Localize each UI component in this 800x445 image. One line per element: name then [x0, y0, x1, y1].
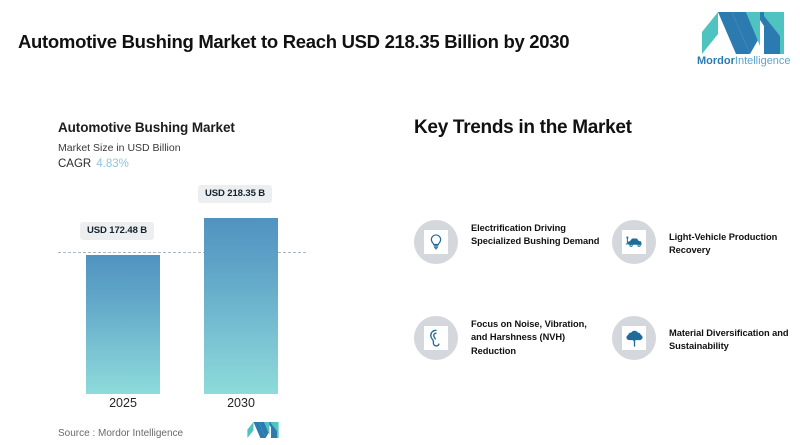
bar-label-2025: USD 172.48 B — [80, 222, 154, 240]
cagr-row: CAGR4.83% — [58, 158, 129, 170]
mordor-intelligence-logo: MordorIntelligence — [697, 12, 789, 74]
tree-icon — [622, 326, 646, 350]
ear-icon — [424, 326, 448, 350]
bar-chart-plot: USD 172.48 B 2025 USD 218.35 B 2030 — [0, 184, 380, 394]
source-name: Mordor Intelligence — [98, 428, 183, 439]
electric-car-icon — [622, 230, 646, 254]
page-title: Automotive Bushing Market to Reach USD 2… — [18, 31, 569, 53]
x-axis-tick-2025: 2025 — [86, 396, 160, 410]
lightbulb-icon — [424, 230, 448, 254]
cagr-label: CAGR — [58, 158, 91, 170]
header: Automotive Bushing Market to Reach USD 2… — [0, 0, 800, 92]
cagr-value: 4.83% — [96, 158, 129, 170]
key-trends-panel: Key Trends in the Market Electrification… — [400, 92, 800, 445]
logo-word-mordor: Mordor — [697, 55, 735, 67]
trends-title: Key Trends in the Market — [414, 117, 632, 139]
logo-word-intelligence: Intelligence — [735, 55, 791, 67]
bar-2025 — [86, 255, 160, 394]
chart-subtitle: Market Size in USD Billion — [58, 142, 181, 154]
trend-label: Focus on Noise, Vibration, and Harshness… — [471, 318, 603, 358]
source-label: Source : — [58, 428, 95, 439]
bar-2030 — [204, 218, 278, 394]
mordor-logo-wordmark: MordorIntelligence — [697, 55, 789, 67]
chart-panel: Automotive Bushing Market Market Size in… — [0, 92, 380, 445]
x-axis-tick-2030: 2030 — [204, 396, 278, 410]
trend-label: Electrification Driving Specialized Bush… — [471, 222, 603, 249]
mordor-intelligence-mark — [243, 422, 283, 438]
trend-label: Light-Vehicle Production Recovery — [669, 231, 800, 258]
chart-title: Automotive Bushing Market — [58, 120, 235, 135]
mordor-logo-mark — [702, 12, 784, 54]
bar-label-2030: USD 218.35 B — [198, 185, 272, 203]
trend-label: Material Diversification and Sustainabil… — [669, 327, 800, 354]
source-attribution: Source : Mordor Intelligence — [58, 428, 183, 439]
